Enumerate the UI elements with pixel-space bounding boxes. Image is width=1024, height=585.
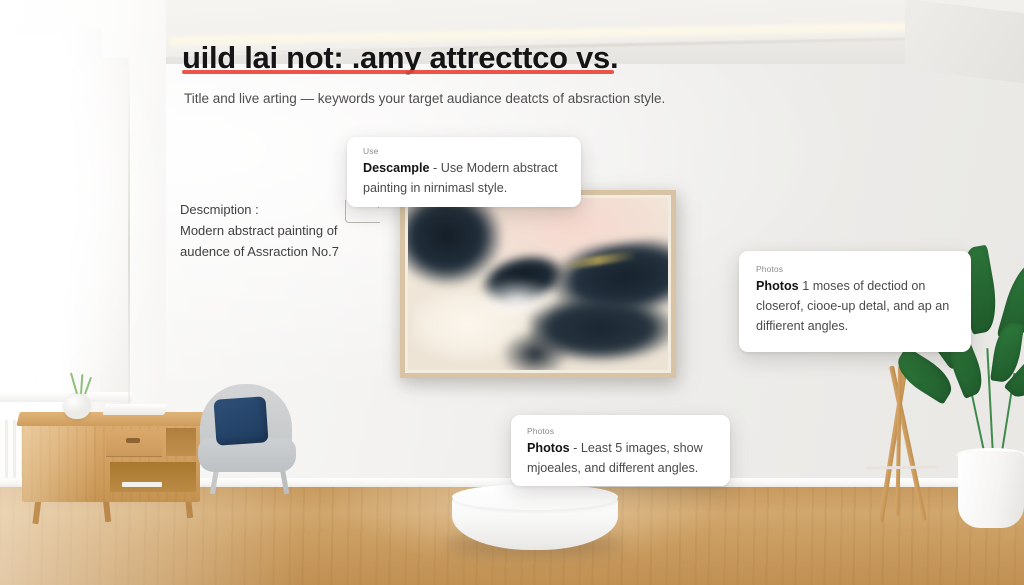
card-body-text: Descample - Use Modern abstract painting… bbox=[363, 158, 567, 198]
sideboard-handle bbox=[126, 438, 140, 443]
description-annotation: Descmiption : Modern abstract painting o… bbox=[180, 199, 339, 262]
callout-card-photos-right[interactable]: Photos Photos 1 moses of dectiod on clos… bbox=[739, 251, 971, 352]
ceiling-right-fold bbox=[905, 0, 1024, 83]
sideboard-cubby bbox=[110, 462, 196, 492]
wall-corner bbox=[128, 50, 130, 454]
sideboard-cubby bbox=[166, 428, 196, 456]
sideboard-highlight bbox=[22, 422, 94, 502]
card-body-text: Photos 1 moses of dectiod on closerof, c… bbox=[756, 276, 955, 336]
callout-card-use[interactable]: Use Descample - Use Modern abstract pain… bbox=[347, 137, 581, 207]
description-label: Descmiption : bbox=[180, 199, 339, 220]
sideboard-drawer bbox=[106, 430, 162, 457]
navy-cushion bbox=[213, 396, 268, 446]
card-separator: - bbox=[570, 441, 581, 455]
title-underline bbox=[182, 70, 614, 74]
card-kicker-label: Use bbox=[363, 146, 567, 157]
description-line-2: audence of Assraction No.7 bbox=[180, 241, 339, 262]
description-line-1: Modern abstract painting of bbox=[180, 220, 339, 241]
painting-mat bbox=[405, 195, 671, 373]
ink-wash-mass bbox=[496, 332, 574, 370]
callout-card-photos-bottom[interactable]: Photos Photos - Least 5 images, show mjo… bbox=[511, 415, 730, 486]
painting-canvas bbox=[408, 198, 668, 370]
card-body-text: Photos - Least 5 images, show mjoeales, … bbox=[527, 438, 716, 478]
vase bbox=[63, 392, 91, 419]
card-bold-term: Photos bbox=[527, 441, 570, 455]
card-separator: - bbox=[430, 161, 441, 175]
light-wash bbox=[470, 274, 564, 326]
sideboard-tray bbox=[102, 404, 168, 415]
coffee-table-top bbox=[452, 484, 618, 510]
painting-frame bbox=[400, 190, 676, 378]
card-kicker-label: Photos bbox=[527, 426, 716, 437]
sideboard-books bbox=[122, 482, 162, 487]
screenshot-root: uild lai not: .amy attrecttco vs. Title … bbox=[0, 0, 1024, 585]
card-bold-term: Descample bbox=[363, 161, 430, 175]
page-subtitle: Title and live arting — keywords your ta… bbox=[184, 91, 665, 106]
card-bold-term: Photos bbox=[756, 279, 799, 293]
card-kicker-label: Photos bbox=[756, 264, 955, 275]
plant-pot bbox=[958, 452, 1024, 528]
